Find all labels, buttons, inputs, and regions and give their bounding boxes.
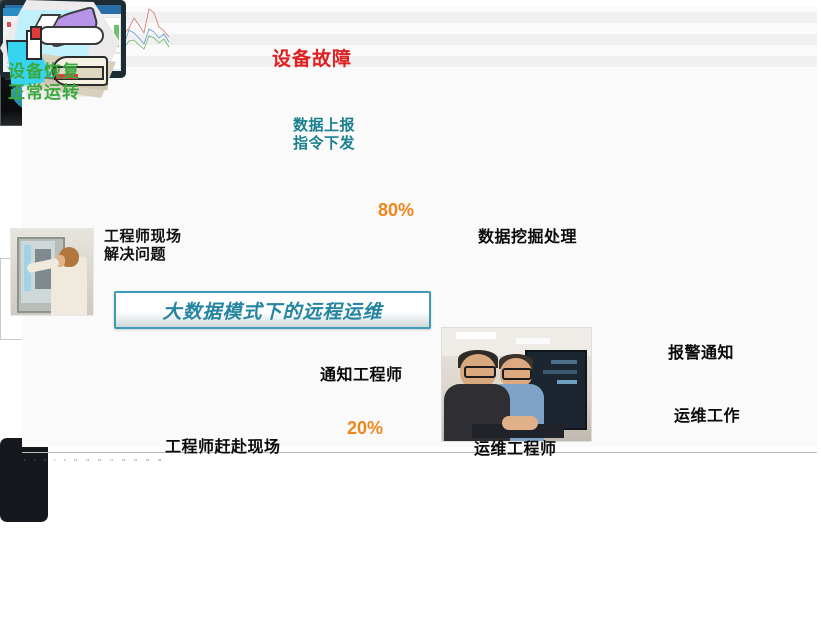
label-alarm-notice: 报警通知 [668,344,734,364]
label-percent-onsite: 20% [347,418,383,440]
label-equipment-failure: 设备故障 [272,48,352,71]
diagram-canvas: 远程维修/远程诊断/远程监控 [0,0,821,463]
label-ops-engineer: 运维工程师 [474,440,557,460]
label-data-mining: 数据挖掘处理 [478,228,577,248]
label-engineer-onsite: 工程师现场 解决问题 [104,228,182,265]
label-percent-remote: 80% [378,200,414,222]
field-engineer-image [10,228,94,316]
label-data-upload-command: 数据上报 指令下发 [293,117,355,154]
banner-box: 大数据模式下的远程运维 [114,291,431,329]
transport-illustration [0,522,120,622]
label-notify-engineer: 通知工程师 [320,366,403,386]
label-engineer-travel: 工程师赶赴现场 [165,438,281,458]
ops-engineers-image [441,327,592,442]
banner-title: 大数据模式下的远程运维 [116,293,429,327]
label-ops-work: 运维工作 [674,407,740,427]
label-equipment-recovery: 设备恢复 正常运转 [8,62,80,103]
